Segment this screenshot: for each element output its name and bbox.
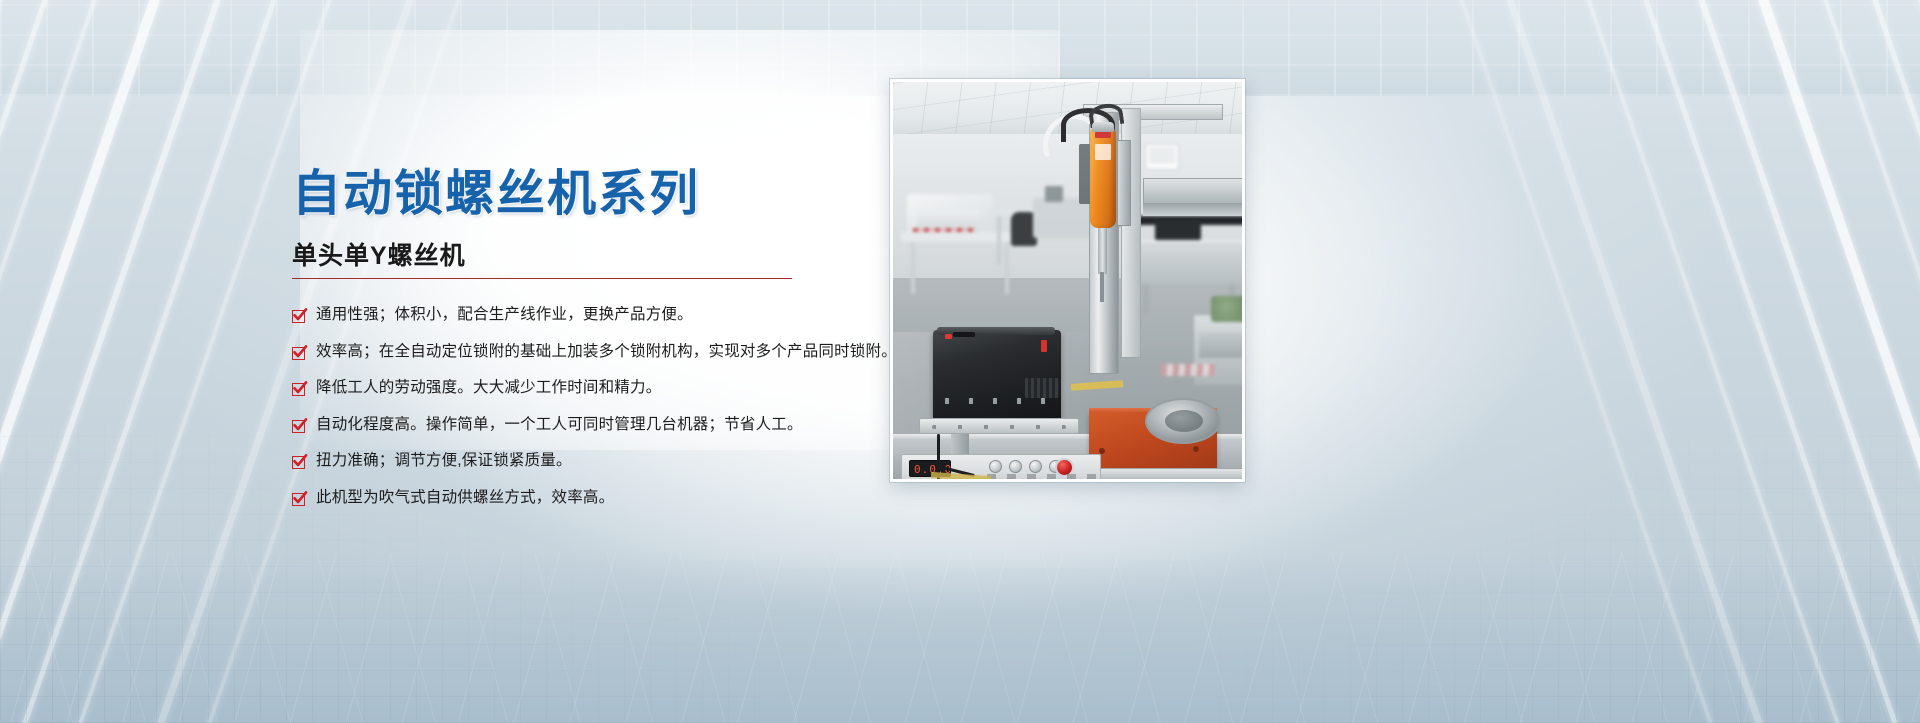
check-icon xyxy=(292,493,305,506)
title-divider xyxy=(292,278,792,279)
feature-text: 扭力准确；调节方便,保证锁紧质量。 xyxy=(316,452,572,471)
page-title: 自动锁螺丝机系列 xyxy=(292,168,700,221)
check-icon xyxy=(292,456,305,469)
list-item: 扭力准确；调节方便,保证锁紧质量。 xyxy=(292,452,992,471)
check-icon xyxy=(292,310,305,323)
feature-text: 降低工人的劳动强度。大大减少工作时间和精力。 xyxy=(316,379,661,398)
product-photo: 0.0.0 xyxy=(890,79,1245,482)
feature-text: 效率高；在全自动定位锁附的基础上加装多个锁附机构，实现对多个产品同时锁附。 xyxy=(316,343,897,362)
list-item: 此机型为吹气式自动供螺丝方式，效率高。 xyxy=(292,489,992,508)
feature-list: 通用性强；体积小，配合生产线作业，更换产品方便。 效率高；在全自动定位锁附的基础… xyxy=(292,288,992,508)
check-icon xyxy=(292,347,305,360)
list-item: 效率高；在全自动定位锁附的基础上加装多个锁附机构，实现对多个产品同时锁附。 xyxy=(292,343,992,362)
list-item: 自动化程度高。操作简单，一个工人可同时管理几台机器；节省人工。 xyxy=(292,416,992,435)
check-icon xyxy=(292,420,305,433)
feature-text: 通用性强；体积小，配合生产线作业，更换产品方便。 xyxy=(316,306,693,325)
page-subtitle: 单头单Y螺丝机 xyxy=(292,236,466,272)
feature-text: 此机型为吹气式自动供螺丝方式，效率高。 xyxy=(316,489,614,508)
check-icon xyxy=(292,383,305,396)
banner-content: 自动锁螺丝机系列 单头单Y螺丝机 通用性强；体积小，配合生产线作业，更换产品方便… xyxy=(0,0,1920,723)
feature-text: 自动化程度高。操作简单，一个工人可同时管理几台机器；节省人工。 xyxy=(316,416,803,435)
list-item: 通用性强；体积小，配合生产线作业，更换产品方便。 xyxy=(292,306,992,325)
list-item: 降低工人的劳动强度。大大减少工作时间和精力。 xyxy=(292,379,992,398)
